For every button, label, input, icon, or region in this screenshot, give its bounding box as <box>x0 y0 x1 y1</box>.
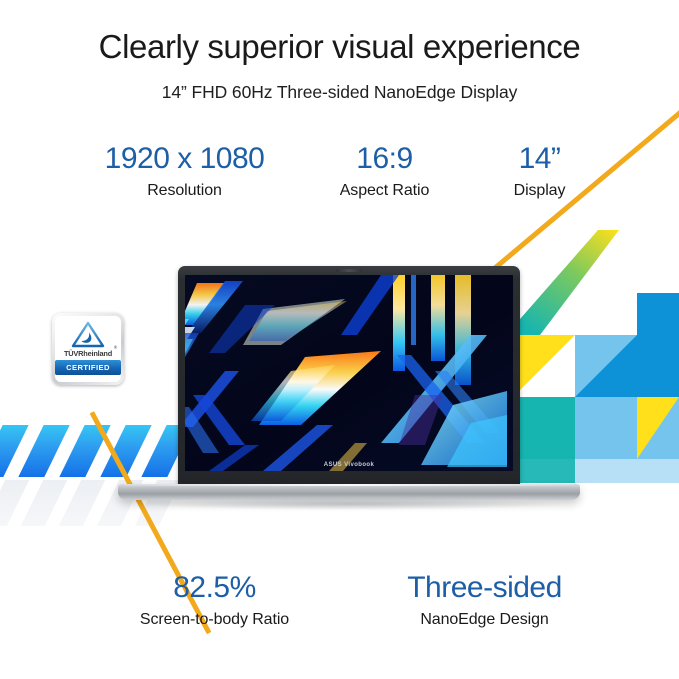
spec-label: NanoEdge Design <box>420 611 548 629</box>
spec-nanoedge: Three-sided NanoEdge Design <box>360 572 610 629</box>
laptop-shadow <box>140 498 560 510</box>
spec-label: Screen-to-body Ratio <box>140 611 289 629</box>
webcam-icon <box>336 269 362 272</box>
laptop-screen: ASUS Vivobook <box>185 275 513 471</box>
screen-wallpaper <box>185 275 513 471</box>
laptop-lid: ASUS Vivobook <box>178 266 520 488</box>
spec-value: Three-sided <box>407 572 562 604</box>
product-feature-banner: Clearly superior visual experience 14” F… <box>0 0 679 679</box>
spec-value: 82.5% <box>173 572 256 604</box>
spec-screen-to-body: 82.5% Screen-to-body Ratio <box>70 572 360 629</box>
spec-row-bottom: 82.5% Screen-to-body Ratio Three-sided N… <box>0 572 679 629</box>
laptop-brand-label: ASUS Vivobook <box>185 462 513 468</box>
